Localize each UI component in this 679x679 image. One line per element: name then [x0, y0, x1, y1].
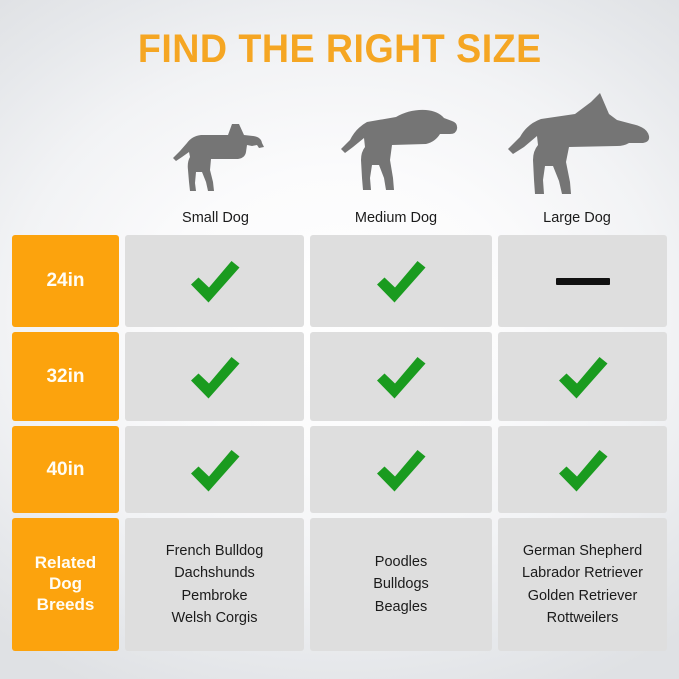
list-item: Labrador Retriever	[522, 562, 643, 584]
cell-24in-medium	[310, 235, 492, 327]
title-bar: FIND THE RIGHT SIZE	[0, 0, 679, 82]
table-row: 24in	[12, 235, 667, 327]
large-dog-silhouette-icon	[501, 90, 653, 202]
cell-32in-small	[125, 332, 304, 421]
checkmark-icon	[189, 259, 241, 303]
cell-40in-large	[498, 426, 667, 513]
list-item: German Shepherd	[522, 540, 643, 562]
checkmark-icon	[189, 355, 241, 399]
row-label-32in: 32in	[12, 332, 119, 421]
column-labels-row: Small Dog Medium Dog Large Dog	[0, 202, 679, 235]
checkmark-icon	[375, 448, 427, 492]
cell-32in-large	[498, 332, 667, 421]
list-item: Rottweilers	[522, 607, 643, 629]
cell-24in-small	[125, 235, 304, 327]
row-label-related-breeds: Related Dog Breeds	[12, 518, 119, 651]
checkmark-icon	[189, 448, 241, 492]
checkmark-icon	[557, 355, 609, 399]
checkmark-icon	[375, 259, 427, 303]
cell-32in-medium	[310, 332, 492, 421]
breeds-list-small: French Bulldog Dachshunds Pembroke Welsh…	[166, 540, 264, 628]
cell-breeds-large: German Shepherd Labrador Retriever Golde…	[498, 518, 667, 651]
small-dog-silhouette-icon	[166, 114, 266, 202]
breeds-list-large: German Shepherd Labrador Retriever Golde…	[522, 540, 643, 628]
list-item: French Bulldog	[166, 540, 264, 562]
row-label-40in: 40in	[12, 426, 119, 513]
breeds-label-line-1: Related	[35, 553, 96, 572]
table-row: Related Dog Breeds French Bulldog Dachsh…	[12, 518, 667, 651]
list-item: Bulldogs	[373, 573, 429, 595]
dog-silhouettes-row	[0, 82, 679, 202]
list-item: Dachshunds	[166, 562, 264, 584]
cell-24in-large	[498, 235, 667, 327]
small-dog-illustration	[126, 114, 305, 202]
breeds-list-medium: Poodles Bulldogs Beagles	[373, 551, 429, 617]
cell-breeds-medium: Poodles Bulldogs Beagles	[310, 518, 492, 651]
table-row: 40in	[12, 426, 667, 513]
column-label-large: Large Dog	[487, 210, 667, 226]
column-label-small: Small Dog	[126, 210, 305, 226]
table-row: 32in	[12, 332, 667, 421]
cell-40in-small	[125, 426, 304, 513]
cell-breeds-small: French Bulldog Dachshunds Pembroke Welsh…	[125, 518, 304, 651]
list-item: Golden Retriever	[522, 585, 643, 607]
size-table: 24in 32in	[0, 235, 679, 679]
large-dog-illustration	[487, 90, 667, 202]
checkmark-icon	[557, 448, 609, 492]
list-item: Pembroke	[166, 585, 264, 607]
checkmark-icon	[375, 355, 427, 399]
medium-dog-silhouette-icon	[334, 102, 459, 202]
page-title: FIND THE RIGHT SIZE	[138, 27, 542, 72]
dash-icon	[556, 278, 610, 285]
list-item: Poodles	[373, 551, 429, 573]
column-label-medium: Medium Dog	[305, 210, 487, 226]
medium-dog-illustration	[305, 102, 487, 202]
breeds-label-line-2: Dog	[49, 574, 82, 593]
row-label-24in: 24in	[12, 235, 119, 327]
list-item: Welsh Corgis	[166, 607, 264, 629]
list-item: Beagles	[373, 596, 429, 618]
size-chart-poster: FIND THE RIGHT SIZE Small Dog Medium Dog…	[0, 0, 679, 679]
cell-40in-medium	[310, 426, 492, 513]
breeds-label-line-3: Breeds	[37, 595, 95, 614]
